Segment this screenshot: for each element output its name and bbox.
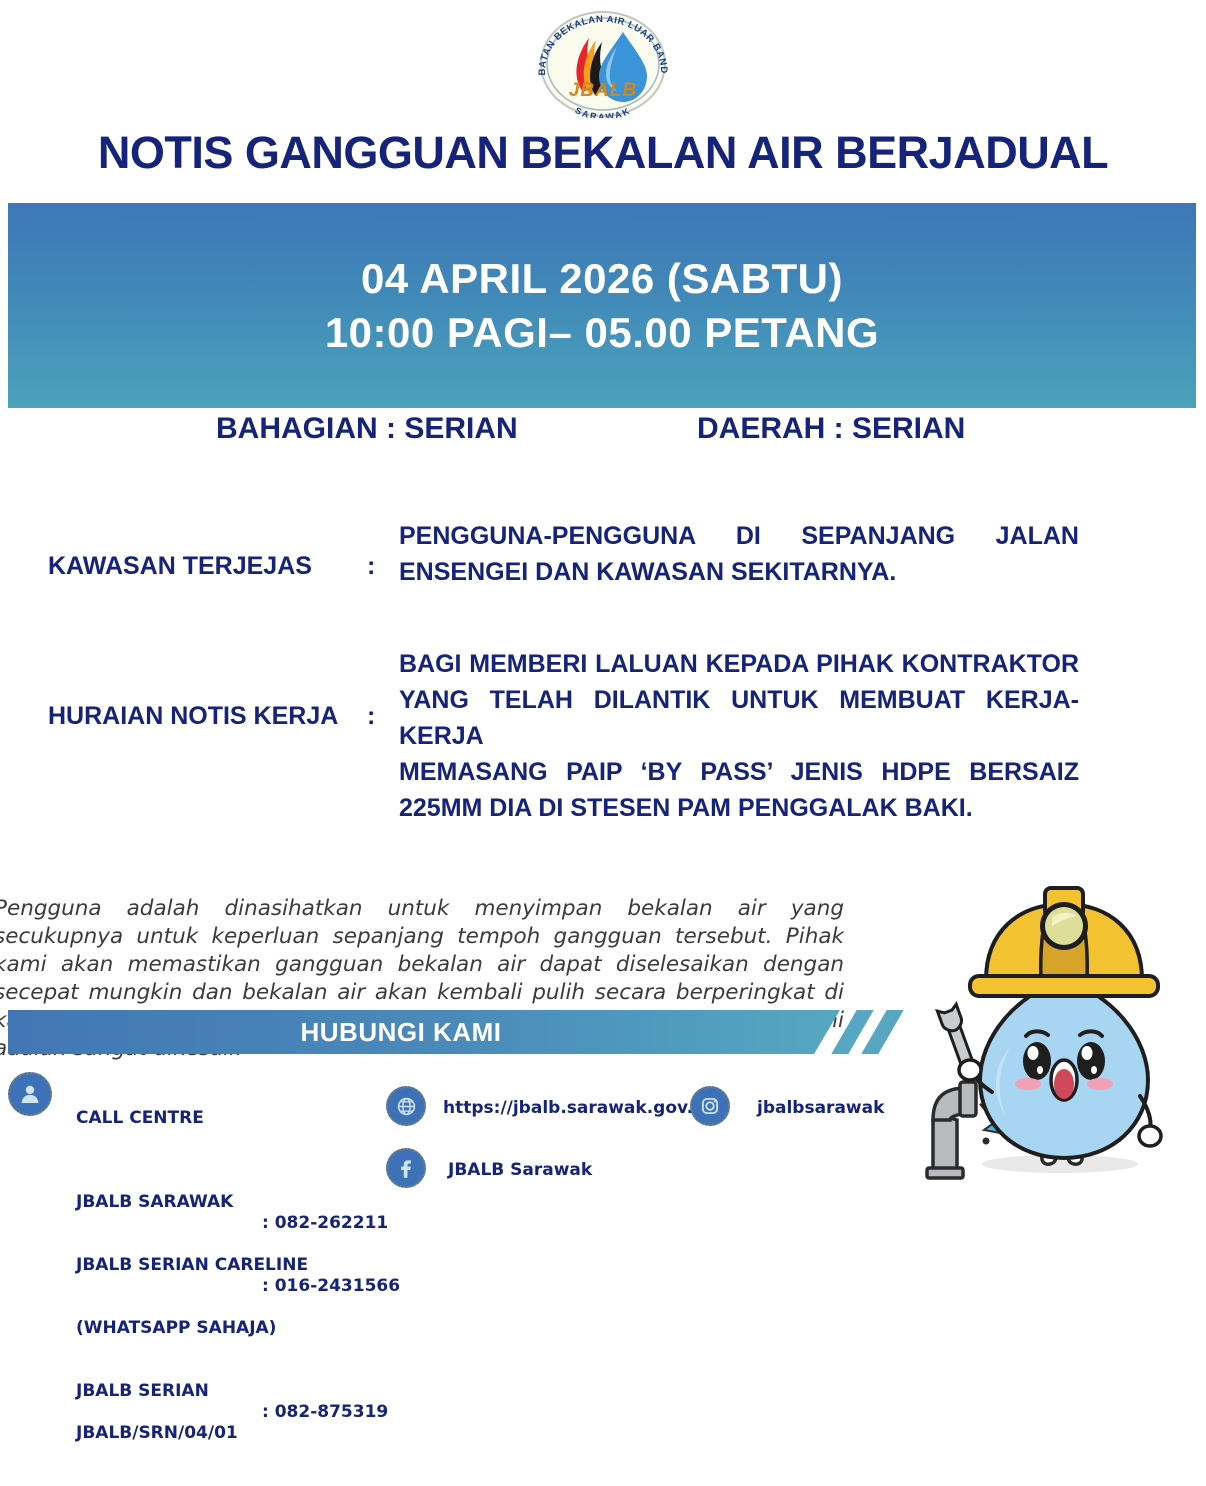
facebook-icon[interactable] <box>386 1148 426 1188</box>
contact-bar-container: HUBUNGI KAMI <box>8 1010 908 1054</box>
daerah-label: DAERAH : SERIAN <box>697 412 965 446</box>
website-link[interactable]: https://jbalb.sarawak.gov.my/ <box>443 1098 728 1118</box>
call-centre-heading: CALL CENTRE <box>76 1108 123 1129</box>
detail-line: BAGI MEMBERI LALUAN KEPADA PIHAK KONTRAK… <box>399 646 1079 682</box>
bahagian-label: BAHAGIAN : SERIAN <box>216 412 518 446</box>
call-centre-block: CALL CENTRE JBALB SARAWAK : 082-262211 J… <box>76 1066 123 1486</box>
detail-label: KAWASAN TERJEJAS <box>48 552 312 581</box>
time-text: 10:00 PAGI– 05.00 PETANG <box>325 309 879 357</box>
contact-bar-title: HUBUNGI KAMI <box>301 1017 502 1048</box>
detail-line: MEMASANG PAIP ‘BY PASS’ JENIS HDPE BERSA… <box>399 754 1079 790</box>
detail-line: ENSENGEI DAN KAWASAN SEKITARNYA. <box>399 554 1079 590</box>
water-droplet-mascot-icon <box>900 868 1200 1182</box>
instagram-label[interactable]: jbalbsarawak <box>757 1098 884 1118</box>
detail-colon: : <box>367 552 375 581</box>
svg-text:JBALB: JBALB <box>569 80 637 101</box>
detail-value: BAGI MEMBERI LALUAN KEPADA PIHAK KONTRAK… <box>399 646 1079 826</box>
globe-icon[interactable] <box>386 1086 426 1126</box>
detail-line: YANG TELAH DILANTIK UNTUK MEMBUAT KERJA-… <box>399 682 1079 754</box>
date-text: 04 APRIL 2026 (SABTU) <box>361 255 843 303</box>
region-row: BAHAGIAN : SERIAN DAERAH : SERIAN <box>0 412 1206 452</box>
detail-line: 225MM DIA DI STESEN PAM PENGGALAK BAKI. <box>399 790 1079 826</box>
reference-number: JBALB/SRN/04/01 <box>76 1423 123 1444</box>
contacts-section: CALL CENTRE JBALB SARAWAK : 082-262211 J… <box>0 1062 900 1182</box>
detail-colon: : <box>367 702 375 731</box>
logo-container: JABATAN BEKALAN AIR LUAR BANDAR SARAWAK … <box>0 8 1206 120</box>
contact-row: JBALB SERIAN CARELINE : 016-2431566 <box>76 1234 123 1255</box>
detail-line: PENGGUNA-PENGGUNA DI SEPANJANG JALAN <box>399 518 1079 554</box>
detail-label: HURAIAN NOTIS KERJA <box>48 702 338 731</box>
detail-value: PENGGUNA-PENGGUNA DI SEPANJANG JALAN ENS… <box>399 518 1079 590</box>
facebook-label[interactable]: JBALB Sarawak <box>448 1160 592 1180</box>
person-icon <box>8 1072 52 1116</box>
instagram-icon[interactable] <box>690 1086 730 1126</box>
jbalb-logo-icon: JABATAN BEKALAN AIR LUAR BANDAR SARAWAK … <box>527 10 679 118</box>
contact-bar: HUBUNGI KAMI <box>8 1010 840 1054</box>
date-banner: 04 APRIL 2026 (SABTU) 10:00 PAGI– 05.00 … <box>8 203 1196 408</box>
page-title: NOTIS GANGGUAN BEKALAN AIR BERJADUAL <box>0 128 1206 178</box>
notice-page: JABATAN BEKALAN AIR LUAR BANDAR SARAWAK … <box>0 0 1206 1182</box>
contact-row: JBALB SERIAN : 082-875319 <box>76 1360 123 1381</box>
contact-row: (WHATSAPP SAHAJA) <box>76 1297 123 1318</box>
